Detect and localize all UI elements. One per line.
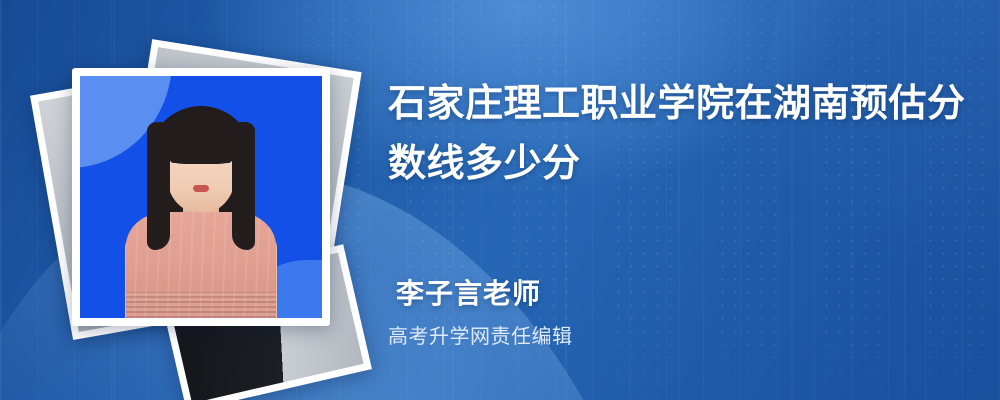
photo-card-main xyxy=(72,68,330,326)
portrait-lips xyxy=(193,185,209,192)
photo-card-stack xyxy=(42,38,342,368)
portrait-figure xyxy=(117,100,285,318)
article-cover-banner: 石家庄理工职业学院在湖南预估分数线多少分 李子言老师 高考升学网责任编辑 xyxy=(0,0,1000,400)
portrait-dress-waistband xyxy=(126,292,276,318)
portrait-hair-side-right xyxy=(232,122,255,250)
article-headline: 石家庄理工职业学院在湖南预估分数线多少分 xyxy=(388,74,978,194)
portrait-hair-side-left xyxy=(147,122,170,250)
author-role: 高考升学网责任编辑 xyxy=(388,320,573,349)
author-name: 李子言老师 xyxy=(396,272,541,312)
teacher-portrait-photo xyxy=(80,76,322,318)
banner-text-column: 石家庄理工职业学院在湖南预估分数线多少分 李子言老师 高考升学网责任编辑 xyxy=(388,0,978,400)
